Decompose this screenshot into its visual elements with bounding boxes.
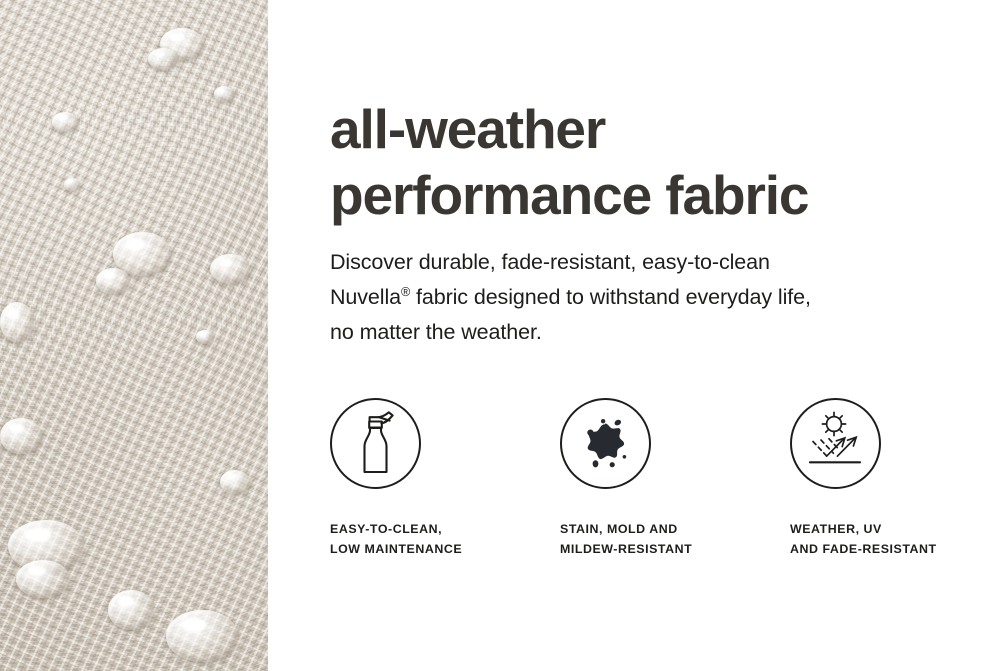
feature-list: EASY-TO-CLEAN, LOW MAINTENANCE STAIN, M (330, 398, 1005, 568)
water-droplet (210, 254, 250, 284)
water-droplet (96, 268, 130, 294)
page-title: all-weather performance fabric (330, 96, 990, 228)
fabric-photo (0, 0, 268, 671)
water-droplet (64, 178, 80, 191)
intro-paragraph: Discover durable, fade-resistant, easy-t… (330, 245, 970, 350)
water-droplet (0, 302, 34, 342)
water-droplet (148, 48, 178, 70)
water-droplet (16, 560, 70, 598)
stain-splat-icon (560, 398, 651, 489)
all-weather-fabric-banner: all-weather performance fabric Discover … (0, 0, 1005, 671)
feature-easy-to-clean: EASY-TO-CLEAN, LOW MAINTENANCE (330, 398, 545, 489)
paragraph-brand: Nuvella (330, 285, 401, 309)
content-panel: all-weather performance fabric Discover … (268, 0, 1005, 671)
water-droplet (0, 418, 42, 454)
paragraph-line-2: fabric designed to withstand everyday li… (410, 285, 811, 309)
spray-bottle-icon (330, 398, 421, 489)
paragraph-line-3: no matter the weather. (330, 320, 542, 344)
sun-uv-reflect-icon (790, 398, 881, 489)
water-droplet (214, 86, 234, 102)
water-droplet (220, 470, 250, 494)
feature-weather-uv-resistant: WEATHER, UV AND FADE-RESISTANT (790, 398, 1005, 489)
paragraph-line-1: Discover durable, fade-resistant, easy-t… (330, 250, 770, 274)
feature-stain-resistant: STAIN, MOLD AND MILDEW-RESISTANT (560, 398, 775, 489)
feature-caption: EASY-TO-CLEAN, LOW MAINTENANCE (330, 520, 560, 559)
water-droplet (166, 610, 238, 662)
feature-caption: STAIN, MOLD AND MILDEW-RESISTANT (560, 520, 790, 559)
water-droplet (52, 112, 78, 132)
water-droplet (196, 330, 214, 344)
water-droplet (108, 590, 154, 630)
registered-mark: ® (401, 285, 410, 299)
feature-caption: WEATHER, UV AND FADE-RESISTANT (790, 520, 1005, 559)
